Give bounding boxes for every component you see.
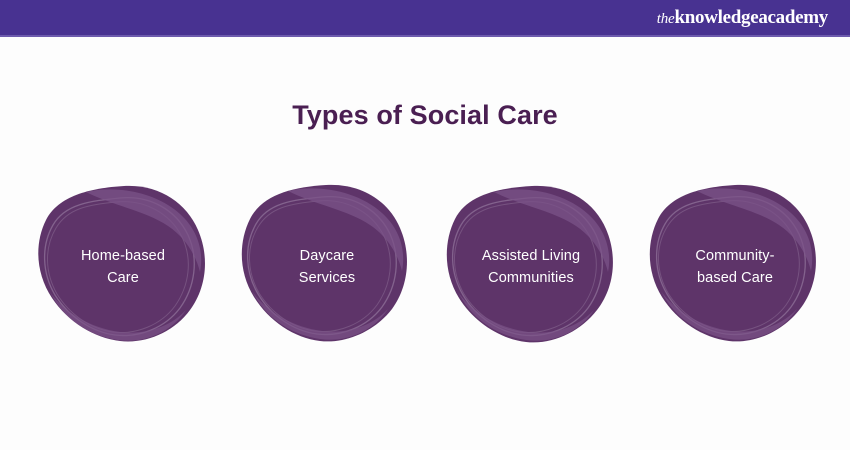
blob-shape-icon [640,180,830,355]
blob-shape-icon [436,180,626,355]
blob-shape-icon [232,180,422,355]
types-of-social-care-list: Home-based Care Daycare Services Assiste… [0,180,850,360]
logo-prefix-text: the [657,11,675,27]
blob-home-based-care[interactable]: Home-based Care [28,180,218,355]
header-bar: theknowledgeacademy [0,0,850,35]
logo-main-text: knowledgeacademy [674,7,828,28]
page-title: Types of Social Care [0,100,850,131]
header-accent-line [0,35,850,37]
theknowledgeacademy-logo[interactable]: theknowledgeacademy [657,8,828,27]
blob-community-based-care[interactable]: Community- based Care [640,180,830,355]
blob-shape-icon [28,180,218,355]
blob-assisted-living-communities[interactable]: Assisted Living Communities [436,180,626,355]
blob-daycare-services[interactable]: Daycare Services [232,180,422,355]
